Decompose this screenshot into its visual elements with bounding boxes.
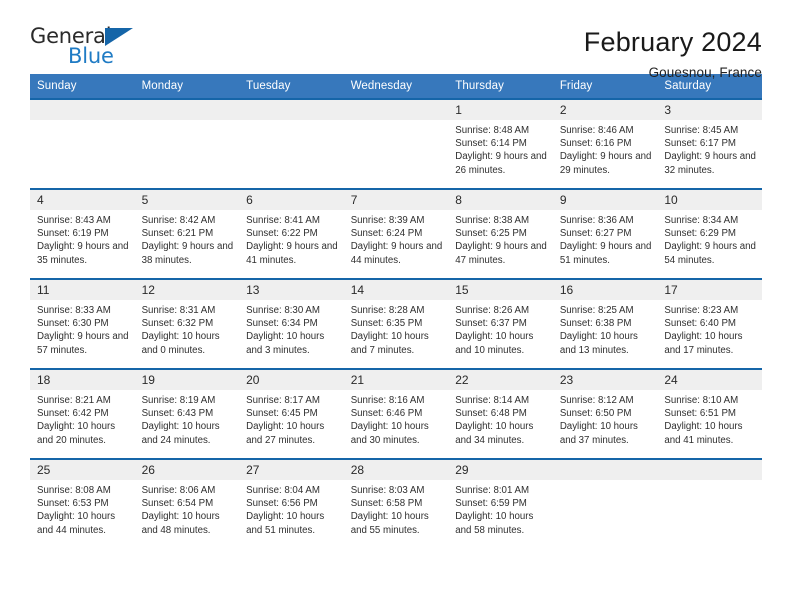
day-number: [344, 100, 449, 120]
sunset-text: Sunset: 6:54 PM: [142, 497, 234, 510]
day-details: Sunrise: 8:31 AMSunset: 6:32 PMDaylight:…: [135, 300, 240, 357]
sunrise-text: Sunrise: 8:48 AM: [455, 124, 547, 137]
sunset-text: Sunset: 6:50 PM: [560, 407, 652, 420]
day-number: 1: [448, 100, 553, 120]
weekday-header-monday: Monday: [135, 74, 240, 99]
day-number: 15: [448, 280, 553, 300]
day-details: Sunrise: 8:25 AMSunset: 6:38 PMDaylight:…: [553, 300, 658, 357]
calendar-day-cell[interactable]: 20Sunrise: 8:17 AMSunset: 6:45 PMDayligh…: [239, 369, 344, 459]
day-number: 21: [344, 370, 449, 390]
calendar-day-cell[interactable]: 17Sunrise: 8:23 AMSunset: 6:40 PMDayligh…: [657, 279, 762, 369]
brand-logo[interactable]: General Blue: [30, 26, 140, 72]
sunrise-text: Sunrise: 8:08 AM: [37, 484, 129, 497]
sunrise-text: Sunrise: 8:36 AM: [560, 214, 652, 227]
calendar-day-cell[interactable]: 28Sunrise: 8:03 AMSunset: 6:58 PMDayligh…: [344, 459, 449, 549]
daylight-text: Daylight: 9 hours and 29 minutes.: [560, 150, 652, 176]
sunrise-text: Sunrise: 8:31 AM: [142, 304, 234, 317]
day-details: Sunrise: 8:16 AMSunset: 6:46 PMDaylight:…: [344, 390, 449, 447]
sunset-text: Sunset: 6:25 PM: [455, 227, 547, 240]
daylight-text: Daylight: 10 hours and 0 minutes.: [142, 330, 234, 356]
sunset-text: Sunset: 6:16 PM: [560, 137, 652, 150]
calendar-body: 1Sunrise: 8:48 AMSunset: 6:14 PMDaylight…: [30, 99, 762, 549]
page-header: General Blue February 2024 Gouesnou, Fra…: [30, 0, 762, 74]
sunrise-text: Sunrise: 8:06 AM: [142, 484, 234, 497]
day-details: Sunrise: 8:06 AMSunset: 6:54 PMDaylight:…: [135, 480, 240, 537]
calendar-day-cell[interactable]: 7Sunrise: 8:39 AMSunset: 6:24 PMDaylight…: [344, 189, 449, 279]
calendar-day-cell[interactable]: 10Sunrise: 8:34 AMSunset: 6:29 PMDayligh…: [657, 189, 762, 279]
day-number: 11: [30, 280, 135, 300]
calendar-day-cell[interactable]: 19Sunrise: 8:19 AMSunset: 6:43 PMDayligh…: [135, 369, 240, 459]
sunset-text: Sunset: 6:24 PM: [351, 227, 443, 240]
calendar-cell-empty: [239, 99, 344, 189]
calendar-day-cell[interactable]: 23Sunrise: 8:12 AMSunset: 6:50 PMDayligh…: [553, 369, 658, 459]
day-details: Sunrise: 8:21 AMSunset: 6:42 PMDaylight:…: [30, 390, 135, 447]
daylight-text: Daylight: 10 hours and 48 minutes.: [142, 510, 234, 536]
daylight-text: Daylight: 10 hours and 41 minutes.: [664, 420, 756, 446]
calendar-day-cell[interactable]: 9Sunrise: 8:36 AMSunset: 6:27 PMDaylight…: [553, 189, 658, 279]
day-details: Sunrise: 8:04 AMSunset: 6:56 PMDaylight:…: [239, 480, 344, 537]
calendar-day-cell[interactable]: 18Sunrise: 8:21 AMSunset: 6:42 PMDayligh…: [30, 369, 135, 459]
day-number: 16: [553, 280, 658, 300]
sunset-text: Sunset: 6:21 PM: [142, 227, 234, 240]
calendar-week-row: 25Sunrise: 8:08 AMSunset: 6:53 PMDayligh…: [30, 459, 762, 549]
sunrise-text: Sunrise: 8:28 AM: [351, 304, 443, 317]
day-details: Sunrise: 8:12 AMSunset: 6:50 PMDaylight:…: [553, 390, 658, 447]
calendar-day-cell[interactable]: 11Sunrise: 8:33 AMSunset: 6:30 PMDayligh…: [30, 279, 135, 369]
day-number: 17: [657, 280, 762, 300]
calendar-day-cell[interactable]: 21Sunrise: 8:16 AMSunset: 6:46 PMDayligh…: [344, 369, 449, 459]
calendar-day-cell[interactable]: 4Sunrise: 8:43 AMSunset: 6:19 PMDaylight…: [30, 189, 135, 279]
day-number: 24: [657, 370, 762, 390]
day-details: Sunrise: 8:34 AMSunset: 6:29 PMDaylight:…: [657, 210, 762, 267]
day-details: Sunrise: 8:46 AMSunset: 6:16 PMDaylight:…: [553, 120, 658, 177]
day-number: [135, 100, 240, 120]
sunset-text: Sunset: 6:22 PM: [246, 227, 338, 240]
daylight-text: Daylight: 9 hours and 41 minutes.: [246, 240, 338, 266]
day-details: Sunrise: 8:10 AMSunset: 6:51 PMDaylight:…: [657, 390, 762, 447]
day-details: Sunrise: 8:48 AMSunset: 6:14 PMDaylight:…: [448, 120, 553, 177]
sunrise-text: Sunrise: 8:45 AM: [664, 124, 756, 137]
day-details: Sunrise: 8:17 AMSunset: 6:45 PMDaylight:…: [239, 390, 344, 447]
sunset-text: Sunset: 6:46 PM: [351, 407, 443, 420]
day-details: Sunrise: 8:14 AMSunset: 6:48 PMDaylight:…: [448, 390, 553, 447]
sunrise-text: Sunrise: 8:46 AM: [560, 124, 652, 137]
day-number: 6: [239, 190, 344, 210]
weekday-header-wednesday: Wednesday: [344, 74, 449, 99]
daylight-text: Daylight: 10 hours and 30 minutes.: [351, 420, 443, 446]
day-number: 27: [239, 460, 344, 480]
calendar-day-cell[interactable]: 22Sunrise: 8:14 AMSunset: 6:48 PMDayligh…: [448, 369, 553, 459]
sunrise-text: Sunrise: 8:10 AM: [664, 394, 756, 407]
sunset-text: Sunset: 6:17 PM: [664, 137, 756, 150]
sunset-text: Sunset: 6:48 PM: [455, 407, 547, 420]
day-number: 8: [448, 190, 553, 210]
daylight-text: Daylight: 10 hours and 44 minutes.: [37, 510, 129, 536]
daylight-text: Daylight: 10 hours and 10 minutes.: [455, 330, 547, 356]
sunrise-text: Sunrise: 8:39 AM: [351, 214, 443, 227]
sunrise-text: Sunrise: 8:43 AM: [37, 214, 129, 227]
day-details: Sunrise: 8:39 AMSunset: 6:24 PMDaylight:…: [344, 210, 449, 267]
daylight-text: Daylight: 10 hours and 20 minutes.: [37, 420, 129, 446]
calendar-day-cell[interactable]: 5Sunrise: 8:42 AMSunset: 6:21 PMDaylight…: [135, 189, 240, 279]
day-number: 22: [448, 370, 553, 390]
day-details: Sunrise: 8:43 AMSunset: 6:19 PMDaylight:…: [30, 210, 135, 267]
sunset-text: Sunset: 6:14 PM: [455, 137, 547, 150]
day-number: [239, 100, 344, 120]
sunrise-text: Sunrise: 8:14 AM: [455, 394, 547, 407]
weekday-header-thursday: Thursday: [448, 74, 553, 99]
day-details: Sunrise: 8:03 AMSunset: 6:58 PMDaylight:…: [344, 480, 449, 537]
day-number: 2: [553, 100, 658, 120]
day-number: 10: [657, 190, 762, 210]
sunrise-text: Sunrise: 8:26 AM: [455, 304, 547, 317]
title-block: February 2024 Gouesnou, France: [584, 26, 762, 80]
daylight-text: Daylight: 9 hours and 47 minutes.: [455, 240, 547, 266]
sunrise-text: Sunrise: 8:04 AM: [246, 484, 338, 497]
daylight-text: Daylight: 9 hours and 51 minutes.: [560, 240, 652, 266]
sunset-text: Sunset: 6:43 PM: [142, 407, 234, 420]
daylight-text: Daylight: 10 hours and 51 minutes.: [246, 510, 338, 536]
day-number: 12: [135, 280, 240, 300]
sunset-text: Sunset: 6:38 PM: [560, 317, 652, 330]
day-number: 19: [135, 370, 240, 390]
daylight-text: Daylight: 9 hours and 54 minutes.: [664, 240, 756, 266]
daylight-text: Daylight: 10 hours and 27 minutes.: [246, 420, 338, 446]
sunset-text: Sunset: 6:35 PM: [351, 317, 443, 330]
daylight-text: Daylight: 9 hours and 44 minutes.: [351, 240, 443, 266]
daylight-text: Daylight: 10 hours and 3 minutes.: [246, 330, 338, 356]
sunrise-text: Sunrise: 8:25 AM: [560, 304, 652, 317]
day-number: 29: [448, 460, 553, 480]
day-number: 18: [30, 370, 135, 390]
day-details: Sunrise: 8:33 AMSunset: 6:30 PMDaylight:…: [30, 300, 135, 357]
calendar-day-cell[interactable]: 29Sunrise: 8:01 AMSunset: 6:59 PMDayligh…: [448, 459, 553, 549]
daylight-text: Daylight: 10 hours and 34 minutes.: [455, 420, 547, 446]
day-number: 9: [553, 190, 658, 210]
sunrise-text: Sunrise: 8:41 AM: [246, 214, 338, 227]
daylight-text: Daylight: 10 hours and 24 minutes.: [142, 420, 234, 446]
day-number: 4: [30, 190, 135, 210]
day-number: [30, 100, 135, 120]
day-number: 14: [344, 280, 449, 300]
day-number: 13: [239, 280, 344, 300]
sunset-text: Sunset: 6:40 PM: [664, 317, 756, 330]
calendar-day-cell[interactable]: 12Sunrise: 8:31 AMSunset: 6:32 PMDayligh…: [135, 279, 240, 369]
daylight-text: Daylight: 9 hours and 32 minutes.: [664, 150, 756, 176]
sunrise-text: Sunrise: 8:21 AM: [37, 394, 129, 407]
calendar-cell-empty: [344, 99, 449, 189]
calendar-cell-empty: [657, 459, 762, 549]
sunset-text: Sunset: 6:42 PM: [37, 407, 129, 420]
calendar-day-cell[interactable]: 6Sunrise: 8:41 AMSunset: 6:22 PMDaylight…: [239, 189, 344, 279]
sunset-text: Sunset: 6:59 PM: [455, 497, 547, 510]
sunrise-text: Sunrise: 8:30 AM: [246, 304, 338, 317]
sunset-text: Sunset: 6:58 PM: [351, 497, 443, 510]
sunrise-text: Sunrise: 8:16 AM: [351, 394, 443, 407]
sunset-text: Sunset: 6:19 PM: [37, 227, 129, 240]
day-details: Sunrise: 8:45 AMSunset: 6:17 PMDaylight:…: [657, 120, 762, 177]
day-details: Sunrise: 8:38 AMSunset: 6:25 PMDaylight:…: [448, 210, 553, 267]
day-details: Sunrise: 8:41 AMSunset: 6:22 PMDaylight:…: [239, 210, 344, 267]
calendar-week-row: 4Sunrise: 8:43 AMSunset: 6:19 PMDaylight…: [30, 189, 762, 279]
calendar-day-cell[interactable]: 3Sunrise: 8:45 AMSunset: 6:17 PMDaylight…: [657, 99, 762, 189]
location-subtitle: Gouesnou, France: [584, 65, 762, 80]
day-details: Sunrise: 8:19 AMSunset: 6:43 PMDaylight:…: [135, 390, 240, 447]
weekday-header-tuesday: Tuesday: [239, 74, 344, 99]
sunset-text: Sunset: 6:34 PM: [246, 317, 338, 330]
day-details: Sunrise: 8:01 AMSunset: 6:59 PMDaylight:…: [448, 480, 553, 537]
calendar-day-cell[interactable]: 8Sunrise: 8:38 AMSunset: 6:25 PMDaylight…: [448, 189, 553, 279]
calendar-grid: SundayMondayTuesdayWednesdayThursdayFrid…: [30, 74, 762, 549]
day-number: 23: [553, 370, 658, 390]
sunset-text: Sunset: 6:32 PM: [142, 317, 234, 330]
sunrise-text: Sunrise: 8:38 AM: [455, 214, 547, 227]
day-number: 5: [135, 190, 240, 210]
day-number: 20: [239, 370, 344, 390]
logo-secondary-text: Blue: [68, 46, 114, 67]
calendar-day-cell[interactable]: 15Sunrise: 8:26 AMSunset: 6:37 PMDayligh…: [448, 279, 553, 369]
page-title: February 2024: [584, 28, 762, 58]
sunset-text: Sunset: 6:45 PM: [246, 407, 338, 420]
day-number: [553, 460, 658, 480]
sunrise-text: Sunrise: 8:01 AM: [455, 484, 547, 497]
sunrise-text: Sunrise: 8:19 AM: [142, 394, 234, 407]
calendar-cell-empty: [30, 99, 135, 189]
calendar-day-cell[interactable]: 2Sunrise: 8:46 AMSunset: 6:16 PMDaylight…: [553, 99, 658, 189]
day-details: Sunrise: 8:30 AMSunset: 6:34 PMDaylight:…: [239, 300, 344, 357]
calendar-day-cell[interactable]: 13Sunrise: 8:30 AMSunset: 6:34 PMDayligh…: [239, 279, 344, 369]
sunrise-text: Sunrise: 8:42 AM: [142, 214, 234, 227]
daylight-text: Daylight: 9 hours and 57 minutes.: [37, 330, 129, 356]
day-number: 25: [30, 460, 135, 480]
day-details: Sunrise: 8:28 AMSunset: 6:35 PMDaylight:…: [344, 300, 449, 357]
calendar-cell-empty: [135, 99, 240, 189]
day-details: Sunrise: 8:08 AMSunset: 6:53 PMDaylight:…: [30, 480, 135, 537]
calendar-day-cell[interactable]: 27Sunrise: 8:04 AMSunset: 6:56 PMDayligh…: [239, 459, 344, 549]
calendar-day-cell[interactable]: 25Sunrise: 8:08 AMSunset: 6:53 PMDayligh…: [30, 459, 135, 549]
calendar-day-cell[interactable]: 26Sunrise: 8:06 AMSunset: 6:54 PMDayligh…: [135, 459, 240, 549]
sunset-text: Sunset: 6:30 PM: [37, 317, 129, 330]
calendar-week-row: 1Sunrise: 8:48 AMSunset: 6:14 PMDaylight…: [30, 99, 762, 189]
sunrise-text: Sunrise: 8:12 AM: [560, 394, 652, 407]
calendar-week-row: 18Sunrise: 8:21 AMSunset: 6:42 PMDayligh…: [30, 369, 762, 459]
calendar-week-row: 11Sunrise: 8:33 AMSunset: 6:30 PMDayligh…: [30, 279, 762, 369]
day-details: Sunrise: 8:42 AMSunset: 6:21 PMDaylight:…: [135, 210, 240, 267]
day-number: 26: [135, 460, 240, 480]
daylight-text: Daylight: 9 hours and 35 minutes.: [37, 240, 129, 266]
daylight-text: Daylight: 10 hours and 17 minutes.: [664, 330, 756, 356]
daylight-text: Daylight: 10 hours and 13 minutes.: [560, 330, 652, 356]
calendar-day-cell[interactable]: 24Sunrise: 8:10 AMSunset: 6:51 PMDayligh…: [657, 369, 762, 459]
day-details: Sunrise: 8:36 AMSunset: 6:27 PMDaylight:…: [553, 210, 658, 267]
sunrise-text: Sunrise: 8:17 AM: [246, 394, 338, 407]
daylight-text: Daylight: 9 hours and 26 minutes.: [455, 150, 547, 176]
day-details: Sunrise: 8:23 AMSunset: 6:40 PMDaylight:…: [657, 300, 762, 357]
sunset-text: Sunset: 6:29 PM: [664, 227, 756, 240]
sunrise-text: Sunrise: 8:34 AM: [664, 214, 756, 227]
sunset-text: Sunset: 6:51 PM: [664, 407, 756, 420]
daylight-text: Daylight: 10 hours and 37 minutes.: [560, 420, 652, 446]
day-details: Sunrise: 8:26 AMSunset: 6:37 PMDaylight:…: [448, 300, 553, 357]
day-number: 28: [344, 460, 449, 480]
sunset-text: Sunset: 6:53 PM: [37, 497, 129, 510]
calendar-day-cell[interactable]: 16Sunrise: 8:25 AMSunset: 6:38 PMDayligh…: [553, 279, 658, 369]
daylight-text: Daylight: 10 hours and 58 minutes.: [455, 510, 547, 536]
calendar-page: General Blue February 2024 Gouesnou, Fra…: [0, 0, 792, 612]
calendar-day-cell[interactable]: 14Sunrise: 8:28 AMSunset: 6:35 PMDayligh…: [344, 279, 449, 369]
daylight-text: Daylight: 9 hours and 38 minutes.: [142, 240, 234, 266]
calendar-day-cell[interactable]: 1Sunrise: 8:48 AMSunset: 6:14 PMDaylight…: [448, 99, 553, 189]
sunrise-text: Sunrise: 8:33 AM: [37, 304, 129, 317]
day-number: 7: [344, 190, 449, 210]
sunrise-text: Sunrise: 8:03 AM: [351, 484, 443, 497]
sunrise-text: Sunrise: 8:23 AM: [664, 304, 756, 317]
day-number: [657, 460, 762, 480]
day-number: 3: [657, 100, 762, 120]
weekday-header-sunday: Sunday: [30, 74, 135, 99]
daylight-text: Daylight: 10 hours and 55 minutes.: [351, 510, 443, 536]
sunset-text: Sunset: 6:56 PM: [246, 497, 338, 510]
calendar-cell-empty: [553, 459, 658, 549]
daylight-text: Daylight: 10 hours and 7 minutes.: [351, 330, 443, 356]
sunset-text: Sunset: 6:27 PM: [560, 227, 652, 240]
sunset-text: Sunset: 6:37 PM: [455, 317, 547, 330]
